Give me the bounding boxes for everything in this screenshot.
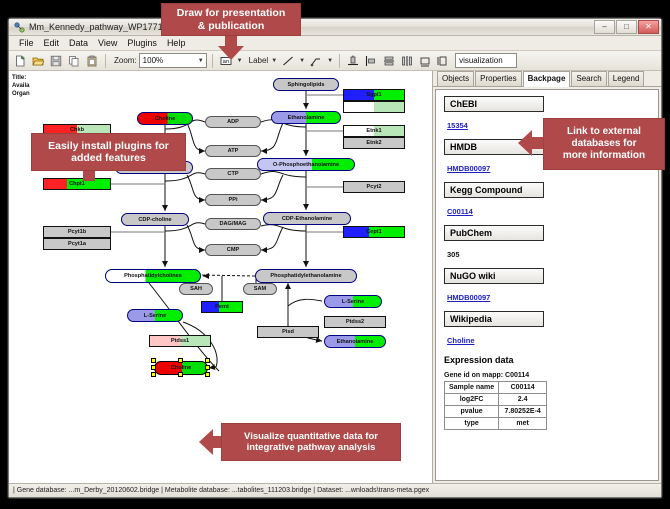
pathway-canvas[interactable]: Title: Availa Organ bbox=[9, 71, 433, 483]
node-label: CDP-Ethanolamine bbox=[282, 216, 332, 222]
expr-val-type: met bbox=[499, 418, 547, 430]
selection-handle[interactable] bbox=[205, 365, 210, 370]
expression-data-table: Sample name C00114 log2FC 2.4 pvalue 7.8… bbox=[444, 381, 547, 430]
interaction-dropdown-icon[interactable]: ▼ bbox=[326, 58, 334, 64]
metabolite-node-l-serine-right[interactable]: L-Serine bbox=[324, 295, 382, 308]
node-label: Etnk1 bbox=[366, 128, 381, 134]
close-button[interactable]: ✕ bbox=[638, 20, 659, 34]
metabolite-node-o-phosphoetha[interactable]: O-Phosphoethanolamine bbox=[257, 158, 355, 171]
node-label: Pisd bbox=[282, 329, 294, 335]
callout-plugins: Easily install plugins for added feature… bbox=[31, 133, 186, 171]
menu-data[interactable]: Data bbox=[64, 36, 93, 50]
stack-vertical-icon[interactable] bbox=[381, 53, 397, 69]
status-text: | Gene database: ...m_Derby_20120602.bri… bbox=[13, 487, 429, 494]
expr-key-sample-name: Sample name bbox=[445, 382, 499, 394]
expr-key-pvalue: pvalue bbox=[445, 406, 499, 418]
table-row: type met bbox=[445, 418, 547, 430]
gene-node-pcyt2[interactable]: Pcyt2 bbox=[343, 181, 405, 193]
gene-node-pcyt1a[interactable]: Pcyt1a bbox=[43, 238, 111, 250]
metabolite-node-sah[interactable]: SAH bbox=[179, 283, 213, 295]
toolbar: Zoom: 100% ▼ an ▼ Label ▼ ▼ ▼ bbox=[9, 51, 661, 71]
node-label: CDP-choline bbox=[138, 217, 171, 223]
callout-draw-arrow-stem bbox=[225, 36, 237, 46]
title-bar: Mm_Kennedy_pathway_WP1771_45176.gpml – □… bbox=[9, 19, 661, 36]
node-label: Sgpl1 bbox=[366, 92, 381, 98]
gene-id-line: Gene id on mapp: C00114 bbox=[444, 372, 650, 379]
selection-handle[interactable] bbox=[205, 358, 210, 363]
metabolite-node-choline-top[interactable]: Choline bbox=[137, 112, 193, 125]
expression-data-title: Expression data bbox=[444, 355, 650, 365]
gene-node-cept1[interactable]: Cept1 bbox=[343, 226, 405, 238]
selection-handle[interactable] bbox=[178, 372, 183, 377]
node-label: ATP bbox=[228, 148, 239, 154]
menu-plugins[interactable]: Plugins bbox=[122, 36, 162, 50]
expr-key-log2fc: log2FC bbox=[445, 394, 499, 406]
expr-val-log2fc: 2.4 bbox=[499, 394, 547, 406]
metabolite-node-cmp[interactable]: CMP bbox=[205, 244, 261, 256]
node-label: Pemt bbox=[215, 304, 229, 310]
side-panel-tabs: Objects Properties Backpage Search Legen… bbox=[433, 71, 661, 87]
db-header-nugo: NuGO wiki bbox=[444, 268, 544, 284]
zoom-value: 100% bbox=[143, 56, 163, 65]
callout-draw-line1: Draw for presentation bbox=[177, 7, 286, 19]
callout-link-arrow bbox=[518, 130, 532, 156]
node-label: Choline bbox=[155, 116, 176, 122]
node-label: Phosphatidylethanolamine bbox=[270, 273, 341, 279]
metabolite-node-cdp-choline[interactable]: CDP-choline bbox=[121, 213, 189, 226]
callout-draw-line2: & publication bbox=[198, 20, 265, 32]
selection-handle[interactable] bbox=[151, 365, 156, 370]
metabolite-node-l-serine-left[interactable]: L-Serine bbox=[127, 309, 183, 322]
selection-handle[interactable] bbox=[151, 358, 156, 363]
callout-draw-arrow bbox=[218, 46, 244, 60]
node-label: Pcyt1a bbox=[68, 241, 86, 247]
maximize-button[interactable]: □ bbox=[616, 20, 637, 34]
align-left-icon[interactable] bbox=[363, 53, 379, 69]
pathvisio-icon bbox=[14, 22, 25, 33]
db-header-wikipedia: Wikipedia bbox=[444, 311, 544, 327]
zoom-label: Zoom: bbox=[114, 56, 137, 65]
node-label: Ptdss2 bbox=[346, 319, 364, 325]
node-label: CTP bbox=[227, 171, 238, 177]
gene-node-pemt[interactable]: Pemt bbox=[201, 301, 243, 313]
db-header-pubchem: PubChem bbox=[444, 225, 544, 241]
gene-node-sgpl1[interactable]: Sgpl1 bbox=[343, 89, 405, 101]
table-row: log2FC 2.4 bbox=[445, 394, 547, 406]
callout-plugins-arrow-stem bbox=[83, 171, 95, 181]
label-dropdown-icon[interactable]: ▼ bbox=[270, 58, 278, 64]
node-label: Pcyt1b bbox=[68, 229, 86, 235]
gene-node-etnk1[interactable]: Etnk1 bbox=[343, 125, 405, 137]
gene-node-etnk2[interactable]: Etnk2 bbox=[343, 137, 405, 149]
db-link-hmdb[interactable]: HMDB00097 bbox=[447, 164, 490, 173]
node-label: Ethanolamine bbox=[337, 339, 374, 345]
gene-node-sgpl1-second-row[interactable] bbox=[343, 101, 405, 113]
gene-node-pcyt1b[interactable]: Pcyt1b bbox=[43, 226, 111, 238]
db-link-kegg[interactable]: C00114 bbox=[447, 207, 473, 216]
metabolite-node-ethanolamine2[interactable]: Ethanolamine bbox=[324, 335, 386, 348]
metabolite-node-sphingolipids[interactable]: Sphingolipids bbox=[273, 78, 339, 91]
node-label: DAG/MAG bbox=[219, 221, 246, 227]
node-label: Phosphatidylcholines bbox=[124, 273, 182, 279]
save-disk-icon[interactable] bbox=[48, 53, 64, 69]
expr-key-type: type bbox=[445, 418, 499, 430]
align-top-icon[interactable] bbox=[345, 53, 361, 69]
line-dropdown-icon[interactable]: ▼ bbox=[298, 58, 306, 64]
gene-node-pisd[interactable]: Pisd bbox=[257, 326, 319, 338]
expr-val-sample-name: C00114 bbox=[499, 382, 547, 394]
db-header-chebi: ChEBI bbox=[444, 96, 544, 112]
node-label: L-Serine bbox=[144, 313, 166, 319]
menu-bar: File Edit Data View Plugins Help bbox=[9, 36, 661, 51]
table-row: Sample name C00114 bbox=[445, 382, 547, 394]
gene-node-ptdss1[interactable]: Ptdss1 bbox=[149, 335, 211, 347]
tab-objects[interactable]: Objects bbox=[437, 71, 474, 86]
table-row: pvalue 7.80252E-4 bbox=[445, 406, 547, 418]
selection-handle[interactable] bbox=[178, 358, 183, 363]
node-label: Pcyt2 bbox=[367, 184, 382, 190]
db-value-pubchem: 305 bbox=[447, 250, 460, 259]
metabolite-node-cdp-ethanol[interactable]: CDP-Ethanolamine bbox=[263, 212, 351, 225]
same-width-icon[interactable] bbox=[417, 53, 433, 69]
metabolite-node-dagmag[interactable]: DAG/MAG bbox=[205, 218, 261, 230]
node-label: PPi bbox=[228, 197, 237, 203]
node-label: SAM bbox=[254, 286, 266, 292]
callout-link-line2: databases for bbox=[571, 138, 636, 150]
metabolite-node-sam[interactable]: SAM bbox=[243, 283, 277, 295]
toolbar-separator-3 bbox=[339, 54, 340, 68]
chevron-down-icon: ▼ bbox=[198, 58, 204, 64]
db-header-kegg: Kegg Compound bbox=[444, 182, 544, 198]
callout-draw: Draw for presentation & publication bbox=[161, 3, 301, 36]
node-label: Ethanolamine bbox=[288, 115, 325, 121]
visualization-value: visualization bbox=[459, 56, 503, 65]
node-label: O-Phosphoethanolamine bbox=[273, 162, 339, 168]
metabolite-node-ptdethanol[interactable]: Phosphatidylethanolamine bbox=[255, 269, 357, 283]
node-label: Sphingolipids bbox=[288, 82, 325, 88]
metabolite-node-ethanolamine[interactable]: Ethanolamine bbox=[271, 111, 341, 124]
minimize-button[interactable]: – bbox=[594, 20, 615, 34]
metabolite-node-ptdcholines[interactable]: Phosphatidylcholines bbox=[105, 269, 201, 283]
node-label: L-Serine bbox=[342, 299, 364, 305]
callout-visualize-arrow bbox=[199, 429, 213, 455]
callout-link-line3: more information bbox=[563, 150, 645, 162]
metabolite-node-ctp[interactable]: CTP bbox=[205, 168, 261, 180]
menu-file[interactable]: File bbox=[14, 36, 39, 50]
tab-search[interactable]: Search bbox=[571, 71, 606, 86]
node-label: CMP bbox=[227, 247, 239, 253]
metabolite-node-ppi[interactable]: PPi bbox=[205, 194, 261, 206]
node-label: Cept1 bbox=[366, 229, 382, 235]
paste-icon[interactable] bbox=[84, 53, 100, 69]
copy-icon[interactable] bbox=[66, 53, 82, 69]
node-label: ADP bbox=[227, 119, 239, 125]
selection-handle[interactable] bbox=[151, 372, 156, 377]
gene-node-chpt1[interactable]: Chpt1 bbox=[43, 178, 111, 190]
status-bar: | Gene database: ...m_Derby_20120602.bri… bbox=[9, 483, 661, 497]
db-link-chebi[interactable]: 15354 bbox=[447, 121, 468, 130]
same-height-icon[interactable] bbox=[435, 53, 451, 69]
visualization-combobox[interactable]: visualization bbox=[455, 53, 517, 68]
menu-edit[interactable]: Edit bbox=[39, 36, 65, 50]
callout-plugins-line2: added features bbox=[71, 152, 146, 164]
metabolite-node-atp[interactable]: ATP bbox=[205, 145, 261, 157]
window-controls: – □ ✕ bbox=[594, 20, 659, 34]
tab-backpage[interactable]: Backpage bbox=[523, 71, 571, 87]
callout-visualize-line2: integrative pathway analysis bbox=[247, 442, 376, 453]
node-label: SAH bbox=[190, 286, 202, 292]
callout-link-databases: Link to external databases for more info… bbox=[543, 118, 665, 170]
db-link-nugo[interactable]: HMDB00097 bbox=[447, 293, 490, 302]
selection-handle[interactable] bbox=[205, 372, 210, 377]
expr-val-pvalue: 7.80252E-4 bbox=[499, 406, 547, 418]
tab-properties[interactable]: Properties bbox=[475, 71, 521, 86]
callout-link-line1: Link to external bbox=[567, 126, 641, 138]
toolbar-separator-1 bbox=[105, 54, 106, 68]
toolbar-separator-2 bbox=[212, 54, 213, 68]
callout-plugins-line1: Easily install plugins for bbox=[48, 140, 169, 152]
metabolite-node-adp[interactable]: ADP bbox=[205, 116, 261, 128]
node-label: Chpt1 bbox=[69, 181, 85, 187]
menu-view[interactable]: View bbox=[93, 36, 122, 50]
menu-help[interactable]: Help bbox=[162, 36, 191, 50]
open-folder-icon[interactable] bbox=[30, 53, 46, 69]
label-button-label[interactable]: Label bbox=[249, 56, 269, 65]
node-label: Choline bbox=[171, 365, 192, 371]
callout-visualize: Visualize quantitative data for integrat… bbox=[221, 423, 401, 461]
tab-legend[interactable]: Legend bbox=[608, 71, 645, 86]
zoom-combobox[interactable]: 100% ▼ bbox=[139, 53, 207, 68]
new-document-icon[interactable] bbox=[12, 53, 28, 69]
gene-node-ptdss2[interactable]: Ptdss2 bbox=[324, 316, 386, 328]
db-link-wikipedia[interactable]: Choline bbox=[447, 336, 475, 345]
interaction-icon[interactable] bbox=[308, 53, 324, 69]
node-label: Etnk2 bbox=[366, 140, 381, 146]
callout-visualize-line1: Visualize quantitative data for bbox=[244, 431, 378, 442]
node-label: Ptdss1 bbox=[171, 338, 189, 344]
line-icon[interactable] bbox=[280, 53, 296, 69]
distribute-icon[interactable] bbox=[399, 53, 415, 69]
application-window: Mm_Kennedy_pathway_WP1771_45176.gpml – □… bbox=[8, 18, 662, 498]
